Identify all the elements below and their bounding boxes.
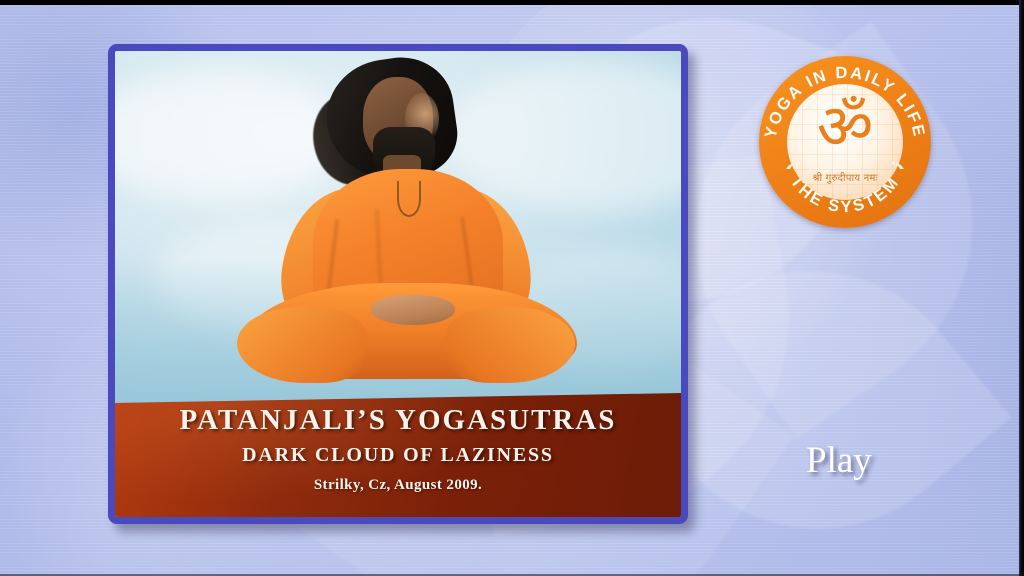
seated-figure <box>115 69 681 399</box>
cover-photo: PATANJALI’S YOGASUTRAS DARK CLOUD OF LAZ… <box>115 51 681 517</box>
knee-right <box>445 307 575 383</box>
logo-swirl-right-icon <box>891 160 905 172</box>
hands-in-mudra <box>371 295 455 325</box>
play-menu-item[interactable]: Play <box>806 442 872 479</box>
title-block: PATANJALI’S YOGASUTRAS DARK CLOUD OF LAZ… <box>115 393 681 517</box>
necklace <box>397 181 421 217</box>
cover-subtitle: DARK CLOUD OF LAZINESS <box>242 444 554 467</box>
knee-left <box>237 307 367 383</box>
logo-disc: ॐ श्री गुरुदीपाय नमः <box>787 84 903 200</box>
letterbox-top <box>0 0 1024 5</box>
photo-card[interactable]: PATANJALI’S YOGASUTRAS DARK CLOUD OF LAZ… <box>108 44 688 524</box>
cover-title: PATANJALI’S YOGASUTRAS <box>180 405 617 437</box>
letterbox-right <box>1019 0 1024 576</box>
yoga-in-daily-life-logo: YOGA IN DAILY LIFE THE SYSTEM ॐ श्री गुर… <box>759 56 931 228</box>
om-icon: ॐ <box>787 96 903 158</box>
logo-sanskrit-text: श्री गुरुदीपाय नमः <box>787 170 903 184</box>
cover-location: Strilky, Cz, August 2009. <box>314 477 482 494</box>
dvd-menu-screen: PATANJALI’S YOGASUTRAS DARK CLOUD OF LAZ… <box>0 0 1024 576</box>
logo-swirl-left-icon <box>785 160 799 172</box>
